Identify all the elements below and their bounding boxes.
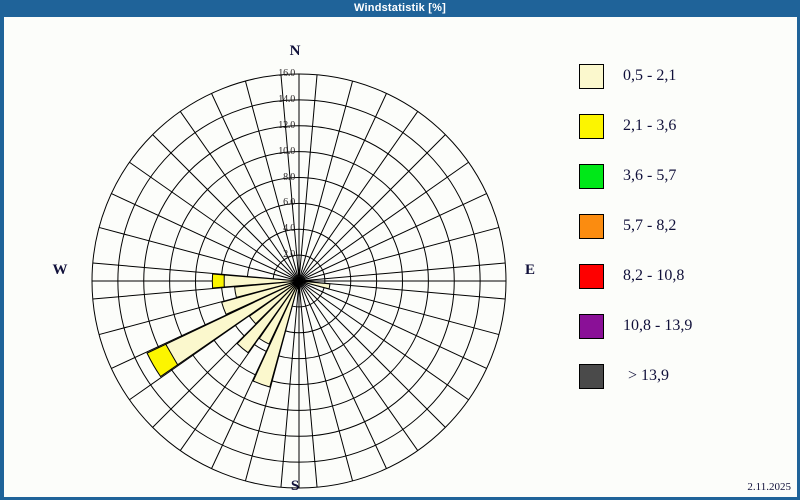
window-titlebar: Windstatistik [%] xyxy=(0,0,800,17)
grid-spoke xyxy=(299,281,445,427)
grid-spoke xyxy=(299,281,469,400)
legend-label: 8,2 - 10,8 xyxy=(623,267,684,285)
legend-color-swatch xyxy=(579,214,604,239)
wind-rose-petal-segment xyxy=(212,274,224,288)
speed-bin-legend: 0,5 - 2,12,1 - 3,63,6 - 5,75,7 - 8,28,2 … xyxy=(579,51,794,401)
wind-rose-plot: N S W E 2.04.06.08.010.012.014.016.0 xyxy=(4,17,564,497)
compass-label-north: N xyxy=(280,43,310,60)
legend-label: > 13,9 xyxy=(628,367,669,385)
radial-tick-label: 10.0 xyxy=(261,146,295,157)
radial-tick-label: 12.0 xyxy=(261,120,295,131)
legend-row: 8,2 - 10,8 xyxy=(579,251,794,301)
compass-label-south: S xyxy=(280,478,310,495)
compass-label-west: W xyxy=(45,262,75,279)
legend-row: > 13,9 xyxy=(579,351,794,401)
legend-label: 2,1 - 3,6 xyxy=(623,117,676,135)
legend-color-swatch xyxy=(579,64,604,89)
grid-spoke xyxy=(299,227,499,281)
legend-row: 3,6 - 5,7 xyxy=(579,151,794,201)
date-stamp: 2.11.2025 xyxy=(747,481,791,493)
radial-tick-label: 14.0 xyxy=(261,94,295,105)
legend-color-swatch xyxy=(579,264,604,289)
grid-spoke xyxy=(299,135,445,281)
legend-color-swatch xyxy=(579,114,604,139)
legend-color-swatch xyxy=(579,164,604,189)
legend-label: 3,6 - 5,7 xyxy=(623,167,676,185)
legend-row: 0,5 - 2,1 xyxy=(579,51,794,101)
grid-spoke xyxy=(299,281,353,481)
radial-tick-label: 4.0 xyxy=(261,223,295,234)
radial-tick-label: 8.0 xyxy=(261,172,295,183)
legend-color-swatch xyxy=(579,364,604,389)
grid-spoke xyxy=(299,281,418,451)
legend-row: 10,8 - 13,9 xyxy=(579,301,794,351)
wind-statistics-window: Windstatistik [%] N S W E 2.04.06.08.010… xyxy=(0,0,800,500)
radial-tick-label: 2.0 xyxy=(261,249,295,260)
legend-color-swatch xyxy=(579,314,604,339)
legend-row: 2,1 - 3,6 xyxy=(579,101,794,151)
grid-spoke xyxy=(299,162,469,281)
grid-spoke xyxy=(299,81,353,281)
window-title: Windstatistik [%] xyxy=(354,2,446,14)
legend-label: 0,5 - 2,1 xyxy=(623,67,676,85)
legend-label: 5,7 - 8,2 xyxy=(623,217,676,235)
chart-canvas: N S W E 2.04.06.08.010.012.014.016.0 0,5… xyxy=(4,17,797,497)
legend-row: 5,7 - 8,2 xyxy=(579,201,794,251)
grid-spoke xyxy=(299,111,418,281)
radial-tick-label: 6.0 xyxy=(261,197,295,208)
radial-tick-label: 16.0 xyxy=(261,68,295,79)
wind-rose-petals xyxy=(147,274,330,387)
legend-label: 10,8 - 13,9 xyxy=(623,317,692,335)
compass-label-east: E xyxy=(515,262,545,279)
